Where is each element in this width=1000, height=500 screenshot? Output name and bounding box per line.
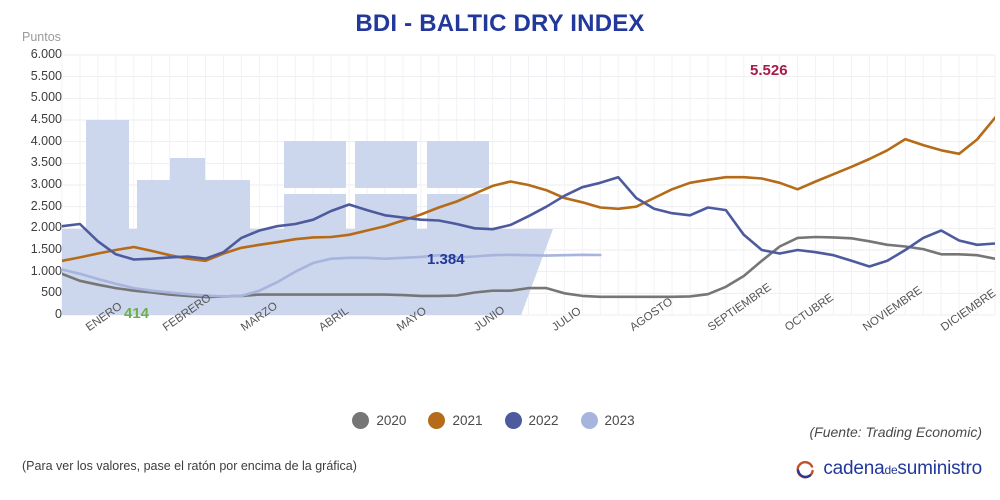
x-tick-label: FEBRERO [161, 292, 213, 334]
source-note: (Fuente: Trading Economic) [810, 424, 982, 440]
brand-part2: de [884, 463, 897, 477]
legend-label: 2023 [605, 413, 635, 428]
x-tick-label: OCTUBRE [783, 292, 836, 334]
brand-text: cadenadesuministro [823, 458, 982, 480]
x-tick-label: MARZO [239, 300, 280, 334]
legend-item-2022[interactable]: 2022 [505, 412, 559, 429]
legend-label: 2022 [529, 413, 559, 428]
annotation-last-2023: 1.384 [427, 251, 465, 268]
legend-swatch-icon [352, 412, 369, 429]
x-tick-label: MAYO [395, 305, 429, 334]
x-tick-label: JULIO [550, 305, 584, 334]
legend-item-2023[interactable]: 2023 [581, 412, 635, 429]
hover-hint: (Para ver los valores, pase el ratón por… [22, 459, 357, 473]
chart-root: BDI - BALTIC DRY INDEX Puntos 6.0005.500… [0, 0, 1000, 500]
legend-swatch-icon [581, 412, 598, 429]
annotation-peak-2021: 5.526 [750, 62, 788, 79]
x-tick-label: ENERO [84, 301, 124, 334]
legend-item-2021[interactable]: 2021 [428, 412, 482, 429]
brand-logo[interactable]: cadenadesuministro [794, 458, 982, 480]
x-tick-label: ABRIL [317, 305, 351, 334]
x-tick-label: DICIEMBRE [939, 287, 998, 333]
legend-swatch-icon [428, 412, 445, 429]
legend-item-2020[interactable]: 2020 [352, 412, 406, 429]
legend-label: 2020 [376, 413, 406, 428]
x-tick-label: SEPTIEMBRE [706, 281, 774, 333]
x-tick-label: JUNIO [472, 304, 507, 334]
legend-label: 2021 [452, 413, 482, 428]
brand-part3: suministro [897, 458, 982, 479]
brand-part1: cadena [823, 458, 884, 479]
x-tick-label: AGOSTO [628, 296, 675, 334]
x-tick-label: NOVIEMBRE [861, 284, 924, 333]
refresh-circle-icon [794, 458, 816, 480]
annotation-min-2020: 414 [124, 305, 149, 322]
legend-swatch-icon [505, 412, 522, 429]
